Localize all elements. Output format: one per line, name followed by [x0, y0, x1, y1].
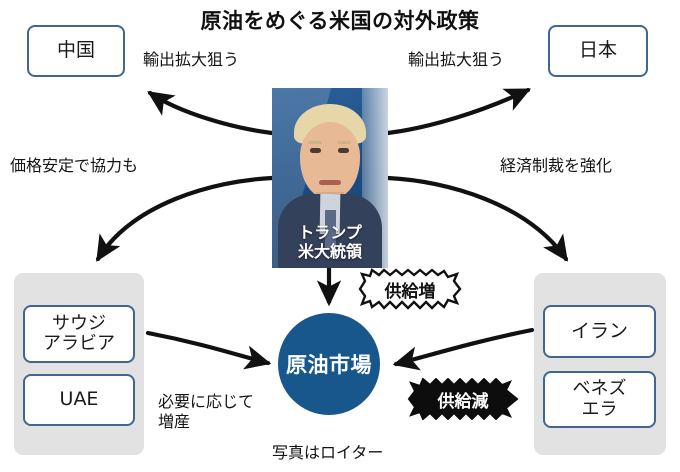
portrait-eye-right [338, 148, 349, 153]
node-japan[interactable]: 日本 [548, 25, 648, 77]
arrow-allies-to-market [148, 333, 268, 363]
label-increase-production: 必要に応じて 増産 [158, 392, 254, 432]
photo-caption: トランプ 米大統領 [272, 224, 388, 262]
badge-supply-up-label: 供給増 [385, 277, 436, 302]
badge-supply-down-label: 供給減 [438, 387, 489, 412]
node-saudi-arabia[interactable]: サウジ アラビア [23, 305, 135, 363]
photo-credit: 写真はロイター [272, 443, 383, 463]
arrow-to-china [150, 93, 272, 133]
portrait-eye-left [310, 148, 321, 153]
trump-portrait-photo: トランプ 米大統領 [272, 88, 388, 268]
infographic-canvas: 原油をめぐる米国の対外政策 中国 日本 サウジ アラビア UAE イラン ベネ [0, 0, 680, 472]
portrait-brow-left [308, 141, 322, 144]
portrait-brow-right [337, 141, 351, 144]
node-uae[interactable]: UAE [23, 374, 135, 426]
label-economic-sanctions: 経済制裁を強化 [500, 156, 612, 176]
arrow-to-japan [388, 90, 528, 133]
node-crude-oil-market[interactable]: 原油市場 [278, 313, 380, 415]
portrait-face [300, 122, 360, 198]
group-friendly-producers: サウジ アラビア UAE [14, 273, 144, 455]
node-venezuela[interactable]: ベネズ エラ [543, 371, 656, 428]
arrow-foes-to-market [396, 330, 532, 364]
group-sanctioned-producers: イラン ベネズ エラ [534, 273, 666, 455]
node-china[interactable]: 中国 [27, 25, 125, 77]
badge-supply-down: 供給減 [406, 378, 520, 420]
label-export-to-china: 輸出拡大狙う [143, 50, 239, 70]
arrow-to-foes [388, 178, 566, 259]
node-iran[interactable]: イラン [543, 305, 656, 358]
arrow-to-allies [98, 178, 272, 259]
label-price-cooperation: 価格安定で協力も [10, 156, 138, 176]
portrait-mouth [319, 180, 341, 185]
badge-supply-up: 供給増 [356, 268, 464, 310]
label-export-to-japan: 輸出拡大狙う [408, 50, 504, 70]
